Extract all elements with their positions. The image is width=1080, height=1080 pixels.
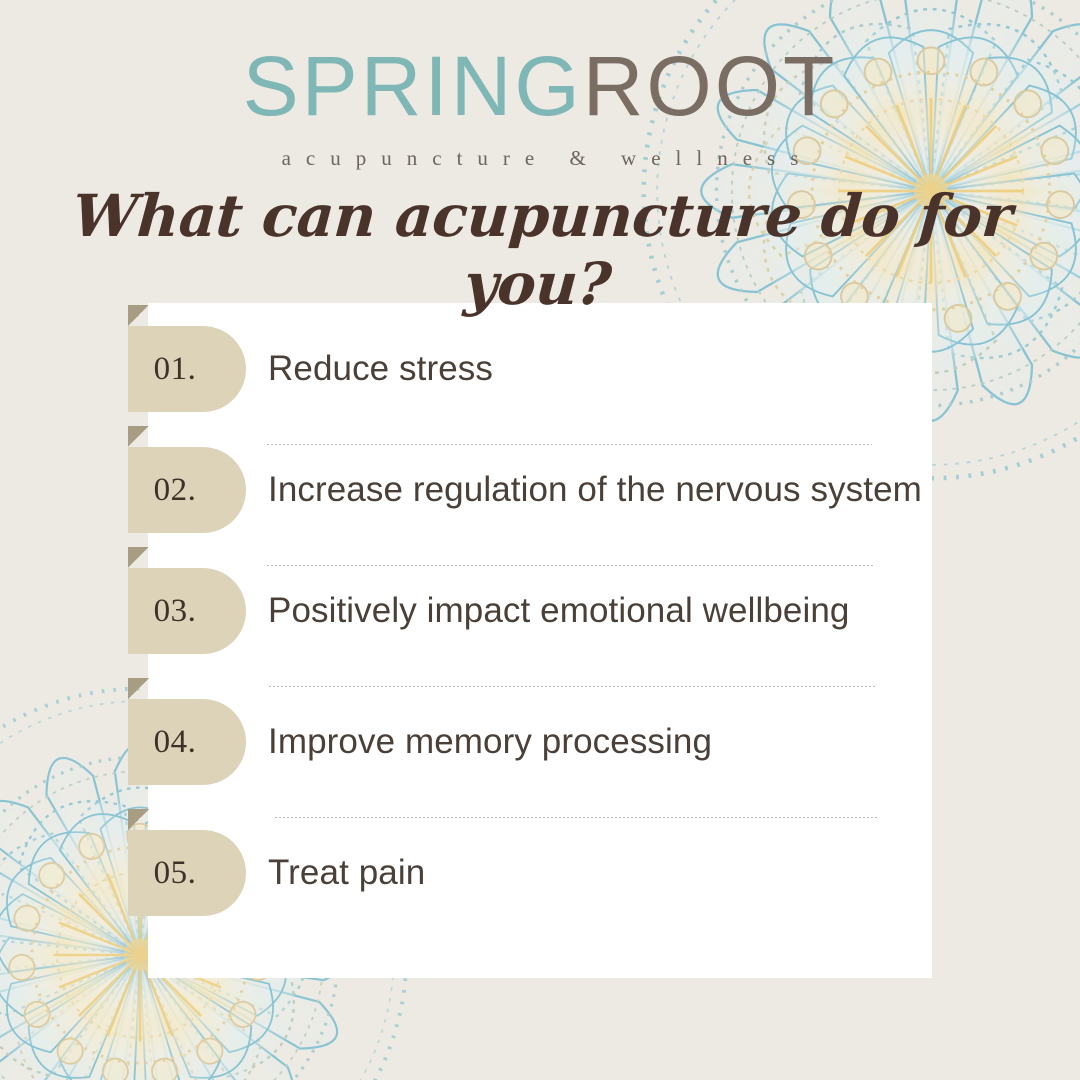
list-item-label: Increase regulation of the nervous syste… bbox=[268, 447, 922, 533]
list-item-number: 03. bbox=[154, 593, 197, 630]
list-item[interactable]: 05. Treat pain bbox=[0, 830, 932, 951]
list-item-number: 04. bbox=[154, 724, 197, 761]
list-item-number: 02. bbox=[154, 472, 197, 509]
badge-shape: 04. bbox=[128, 699, 246, 785]
list-item-label: Positively impact emotional wellbeing bbox=[268, 568, 849, 654]
brand-name-root: ROOT bbox=[583, 39, 838, 133]
brand-wordmark: SPRINGROOT bbox=[0, 44, 1080, 128]
list-item-number-badge: 05. bbox=[128, 830, 248, 916]
ribbon-fold-icon bbox=[128, 547, 149, 568]
benefits-list: 01. Reduce stress 02. Increase regulatio… bbox=[0, 303, 932, 978]
list-item-number-badge: 04. bbox=[128, 699, 248, 785]
brand-logo: SPRINGROOT acupuncture & wellness bbox=[0, 44, 1080, 171]
list-item-number-badge: 02. bbox=[128, 447, 248, 533]
list-item-divider bbox=[266, 565, 874, 566]
list-item[interactable]: 03. Positively impact emotional wellbein… bbox=[0, 568, 932, 689]
brand-name-spring: SPRING bbox=[243, 39, 583, 133]
badge-shape: 05. bbox=[128, 830, 246, 916]
list-item-label: Improve memory processing bbox=[268, 699, 712, 785]
ribbon-fold-icon bbox=[128, 305, 149, 326]
list-item[interactable]: 04. Improve memory processing bbox=[0, 699, 932, 820]
badge-shape: 03. bbox=[128, 568, 246, 654]
list-item-label: Reduce stress bbox=[268, 326, 493, 412]
list-item-divider bbox=[268, 686, 876, 687]
badge-shape: 01. bbox=[128, 326, 246, 412]
ribbon-fold-icon bbox=[128, 678, 149, 699]
list-item-number: 05. bbox=[154, 855, 197, 892]
brand-tagline: acupuncture & wellness bbox=[0, 146, 1080, 171]
ribbon-fold-icon bbox=[128, 426, 149, 447]
ribbon-fold-icon bbox=[128, 809, 149, 830]
list-item-divider bbox=[266, 444, 872, 445]
badge-shape: 02. bbox=[128, 447, 246, 533]
list-item-number: 01. bbox=[154, 351, 197, 388]
page-title: What can acupuncture do for you? bbox=[0, 182, 1080, 318]
list-item-label: Treat pain bbox=[268, 830, 425, 916]
list-item-number-badge: 01. bbox=[128, 326, 248, 412]
list-item-divider bbox=[274, 817, 878, 818]
list-item-number-badge: 03. bbox=[128, 568, 248, 654]
